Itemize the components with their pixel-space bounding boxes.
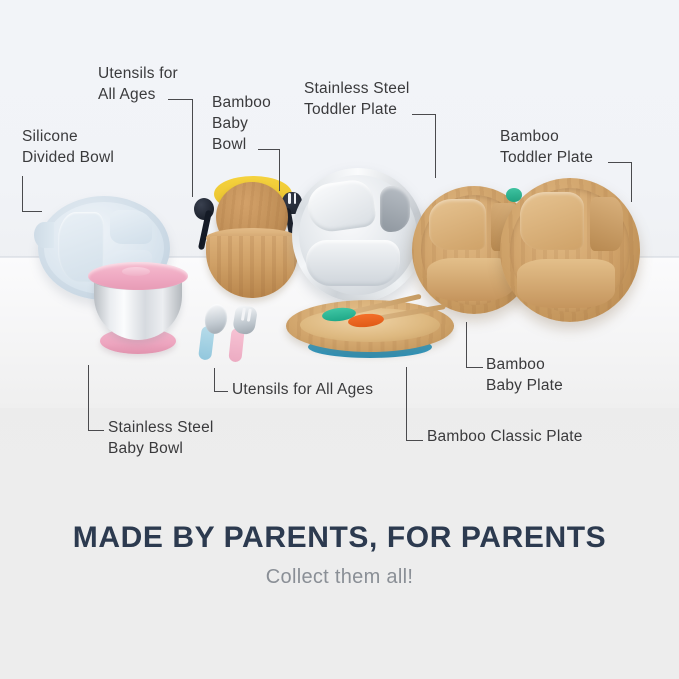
callout-silicone-divided-bowl: Silicone Divided Bowl [22, 126, 114, 168]
product-bamboo-baby-bowl [196, 176, 306, 304]
steel-plate-compartment-3 [306, 240, 400, 286]
footer-subline: Collect them all! [0, 566, 679, 589]
bamboo-plate-front-compartment-3 [517, 259, 615, 308]
callout-bamboo-toddler-plate: Bamboo Toddler Plate [500, 126, 593, 168]
product-bamboo-classic-plate [286, 300, 454, 362]
leader-bamboo-baby-plate [466, 322, 488, 370]
callout-bamboo-baby-bowl: Bamboo Baby Bowl [212, 92, 271, 155]
bamboo-plate-back-compartment-1 [429, 199, 486, 250]
product-metal-utensils [196, 300, 278, 362]
bamboo-plate-front-compartment-1 [520, 192, 584, 250]
leader-utensils-for-all-ages-top [168, 99, 198, 199]
steel-plate-compartment-2 [380, 186, 410, 232]
leader-bamboo-baby-bowl [258, 149, 286, 193]
footer-headline: MADE BY PARENTS, FOR PARENTS [0, 521, 679, 555]
bamboo-bowl-body [206, 236, 298, 298]
baby-bowl-lid-tab [122, 267, 150, 276]
product-stainless-steel-baby-bowl [86, 262, 190, 362]
metal-fork-icon [232, 304, 258, 335]
silicone-bowl-tab [34, 222, 54, 248]
leader-stainless-steel-toddler-plate [412, 114, 442, 180]
infographic-canvas: Silicone Divided Bowl Utensils for All A… [0, 0, 679, 679]
callout-utensils-for-all-ages-bottom: Utensils for All Ages [232, 379, 373, 400]
callout-utensils-for-all-ages-top: Utensils for All Ages [98, 63, 178, 105]
leader-silicone-divided-bowl [22, 176, 48, 214]
silicone-bowl-compartment-top [110, 210, 152, 244]
leader-stainless-steel-baby-bowl [88, 365, 110, 433]
callout-stainless-steel-baby-bowl: Stainless Steel Baby Bowl [108, 417, 214, 459]
product-stainless-steel-toddler-plate [292, 168, 424, 304]
leader-bamboo-classic-plate [406, 367, 428, 443]
callout-bamboo-classic-plate: Bamboo Classic Plate [427, 426, 583, 447]
leader-utensils-for-all-ages-bottom [214, 368, 234, 394]
bamboo-plate-front-compartment-2 [590, 197, 624, 252]
leader-bamboo-toddler-plate [608, 162, 638, 204]
callout-bamboo-baby-plate: Bamboo Baby Plate [486, 354, 563, 396]
callout-stainless-steel-toddler-plate: Stainless Steel Toddler Plate [304, 78, 410, 120]
